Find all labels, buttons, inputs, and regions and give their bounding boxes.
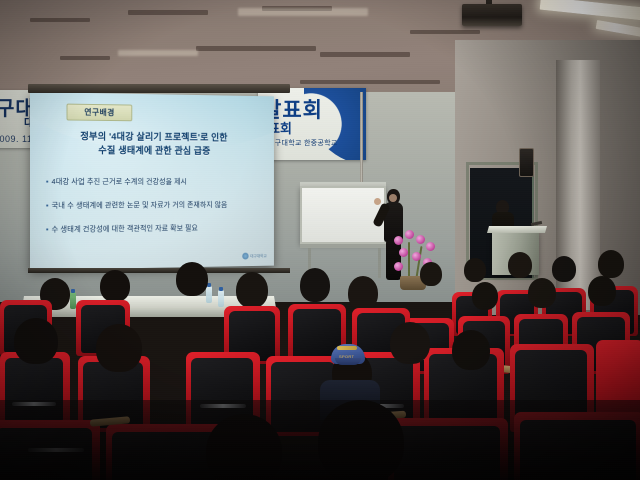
water-bottle (218, 290, 224, 307)
theater-seat-back (0, 428, 92, 480)
audience-head (420, 262, 442, 286)
audience-head-foreground (318, 400, 404, 480)
slide-heading-line2: 수질 생태계에 관한 관심 급증 (30, 142, 274, 157)
slide-section-tab: 연구배경 (67, 104, 133, 122)
flower-bloom (399, 248, 408, 257)
whiteboard-leg (378, 248, 381, 278)
theater-seat-back (5, 358, 63, 422)
theater-seat-back (394, 426, 500, 480)
slide-bullet-1: ▪4대강 사업 추진 근거로 수계의 건강성을 제시 (46, 176, 187, 187)
bullet-marker-icon: ▪ (46, 225, 49, 234)
seat-highlight (12, 402, 56, 406)
audience-head (96, 324, 142, 372)
ceiling-tile (320, 52, 410, 57)
ceiling-tile (300, 80, 440, 84)
theater-seat-back (112, 432, 216, 480)
bullet-marker-icon: ▪ (46, 201, 49, 210)
whiteboard (300, 186, 386, 244)
ceiling-projector (462, 4, 522, 26)
wall-speaker (519, 148, 534, 177)
audience-head-foreground (206, 414, 282, 480)
ceiling-tile (410, 30, 480, 34)
cap-text: SPORT (339, 354, 354, 359)
bullet-marker-icon: ▪ (46, 177, 49, 186)
flower-bloom (394, 262, 403, 271)
presenter-hand (374, 198, 381, 205)
flower-bloom (394, 236, 403, 245)
audience-head (508, 252, 532, 278)
ceiling-tile (196, 46, 316, 51)
flower-bloom (405, 230, 414, 239)
audience-head (464, 258, 486, 282)
audience-head (300, 268, 330, 302)
lectern-top (487, 226, 547, 233)
presenter-face (389, 194, 397, 202)
audience-head (236, 272, 268, 308)
audience-head (176, 262, 208, 296)
audience-head (472, 282, 498, 310)
audience-head (348, 276, 378, 310)
banner-right-subtitle: 대구대학교 한중공학교 (268, 138, 338, 148)
audience-head (552, 256, 576, 282)
flower-bloom (416, 235, 425, 244)
slide-bullet-3: ▪수 생태계 건강성에 대한 객관적인 자료 확보 필요 (46, 223, 198, 235)
projection-screen: 연구배경 정부의 '4대강 살리기 프로젝트'로 인한 수질 생태계에 관한 관… (30, 92, 274, 270)
baseball-cap: SPORT (331, 344, 365, 364)
screen-roller-case (28, 84, 290, 93)
audience-head (14, 318, 58, 364)
slide-bullet-1-text: 4대강 사업 추진 근거로 수계의 건강성을 제시 (52, 177, 188, 186)
ceiling-tile (60, 56, 110, 60)
slide-bullet-3-text: 수 생태계 건강성에 대한 객관적인 자료 확보 필요 (52, 224, 198, 234)
cap-stripe (337, 346, 357, 350)
flower-bloom (426, 242, 435, 251)
slide-section-label: 연구배경 (84, 107, 114, 118)
ceiling-tile (128, 10, 208, 15)
banner-right: 발표회 표회 대구대학교 한중공학교 (258, 88, 366, 160)
ceiling-tile (30, 18, 90, 22)
slide-logo-icon (242, 253, 248, 260)
flower-stem (408, 242, 410, 280)
audience-head (528, 278, 556, 308)
cap-brim (335, 358, 361, 365)
ceiling-light-dim (238, 8, 368, 16)
bottle-cap-icon (219, 287, 223, 291)
whiteboard-tray (300, 244, 386, 248)
audience-head (452, 330, 490, 370)
seat-highlight (28, 448, 84, 452)
audience-head (390, 322, 430, 364)
lecture-hall-photo: 구대 대구 2009. 11. 20(금) 발표회 표회 대구대학교 한중공학교… (0, 0, 640, 480)
water-bottle (206, 286, 212, 303)
slide-logo: 대구대학교 (242, 252, 267, 259)
ceiling-light-dim (118, 50, 198, 56)
slide-bullet-2-text: 국내 수 생태계에 관련한 논문 및 자료가 거의 존재하지 않음 (52, 200, 228, 210)
audience-head (100, 270, 130, 302)
bottle-cap-icon (71, 289, 75, 293)
flower-bloom (412, 252, 421, 261)
slide-bullet-2: ▪국내 수 생태계에 관련한 논문 및 자료가 거의 존재하지 않음 (46, 199, 228, 211)
seat-highlight (200, 404, 246, 408)
slide-logo-text: 대구대학교 (250, 253, 267, 259)
theater-seat-back (520, 420, 636, 480)
audience-head (598, 250, 624, 278)
audience-head (588, 276, 616, 306)
